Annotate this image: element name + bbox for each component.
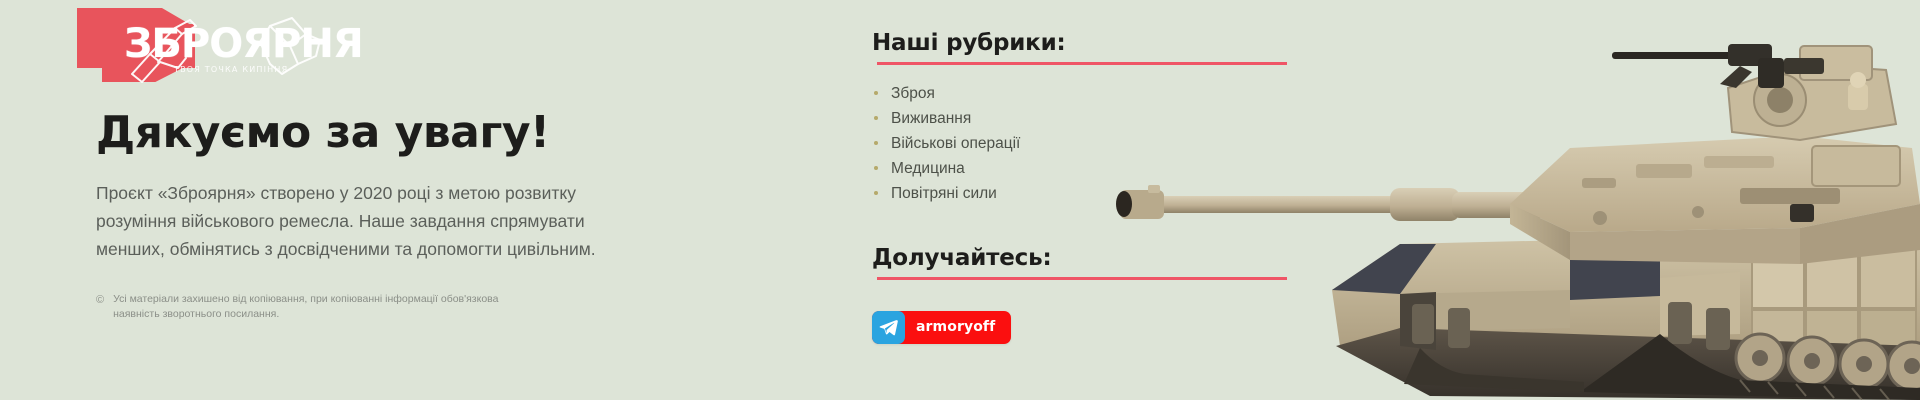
copyright-block: © Усі матеріали захишено від копіювання,… xyxy=(96,292,526,324)
rubrics-heading: Наші рубрики: xyxy=(872,30,1292,56)
footer-banner: ЗБРОЯРНЯ ТВОЯ ТОЧКА КИПІННЯ Дякуємо за у… xyxy=(0,0,1920,400)
left-text-column: Дякуємо за увагу! Проєкт «Зброярня» ство… xyxy=(96,110,736,323)
telegram-link-button[interactable]: armoryoff xyxy=(872,311,1011,344)
rubric-item-viyskovi-operatsii[interactable]: Військові операції xyxy=(872,131,1292,156)
join-heading-rule xyxy=(877,277,1287,280)
intro-paragraph: Проєкт «Зброярня» створено у 2020 році з… xyxy=(96,179,611,264)
logo-wordmark: ЗБРОЯРНЯ xyxy=(124,24,363,64)
tank-hull xyxy=(1332,240,1920,358)
rubric-item-vyzhyvannya[interactable]: Виживання xyxy=(872,106,1292,131)
rubrics-heading-rule xyxy=(877,62,1287,65)
logo-tagline: ТВОЯ ТОЧКА КИПІННЯ xyxy=(174,65,288,74)
rubric-item-medytsyna[interactable]: Медицина xyxy=(872,156,1292,181)
links-column: Наші рубрики: Зброя Виживання Військові … xyxy=(872,30,1292,344)
rubric-item-povitryani-syly[interactable]: Повітряні сили xyxy=(872,181,1292,206)
rubrics-list: Зброя Виживання Військові операції Медиц… xyxy=(872,81,1292,207)
site-logo[interactable]: ЗБРОЯРНЯ ТВОЯ ТОЧКА КИПІННЯ xyxy=(72,2,322,88)
tank-track-and-roadwheels xyxy=(1336,292,1920,400)
telegram-paper-plane-icon xyxy=(872,311,905,344)
rubric-item-zbroya[interactable]: Зброя xyxy=(872,81,1292,106)
copyright-icon: © xyxy=(96,293,104,307)
page-title: Дякуємо за увагу! xyxy=(96,110,736,157)
telegram-handle: armoryoff xyxy=(916,319,995,335)
tank-roadwheels xyxy=(1736,334,1920,390)
copyright-text: Усі матеріали захишено від копіювання, п… xyxy=(113,292,526,324)
join-heading: Долучайтесь: xyxy=(872,245,1292,271)
tank-side-armour-panels xyxy=(1752,248,1916,346)
tank-commander-cupola-and-machine-gun xyxy=(1612,44,1896,140)
join-section: Долучайтесь: armoryoff xyxy=(872,245,1292,344)
tank-turret xyxy=(1510,136,1920,264)
